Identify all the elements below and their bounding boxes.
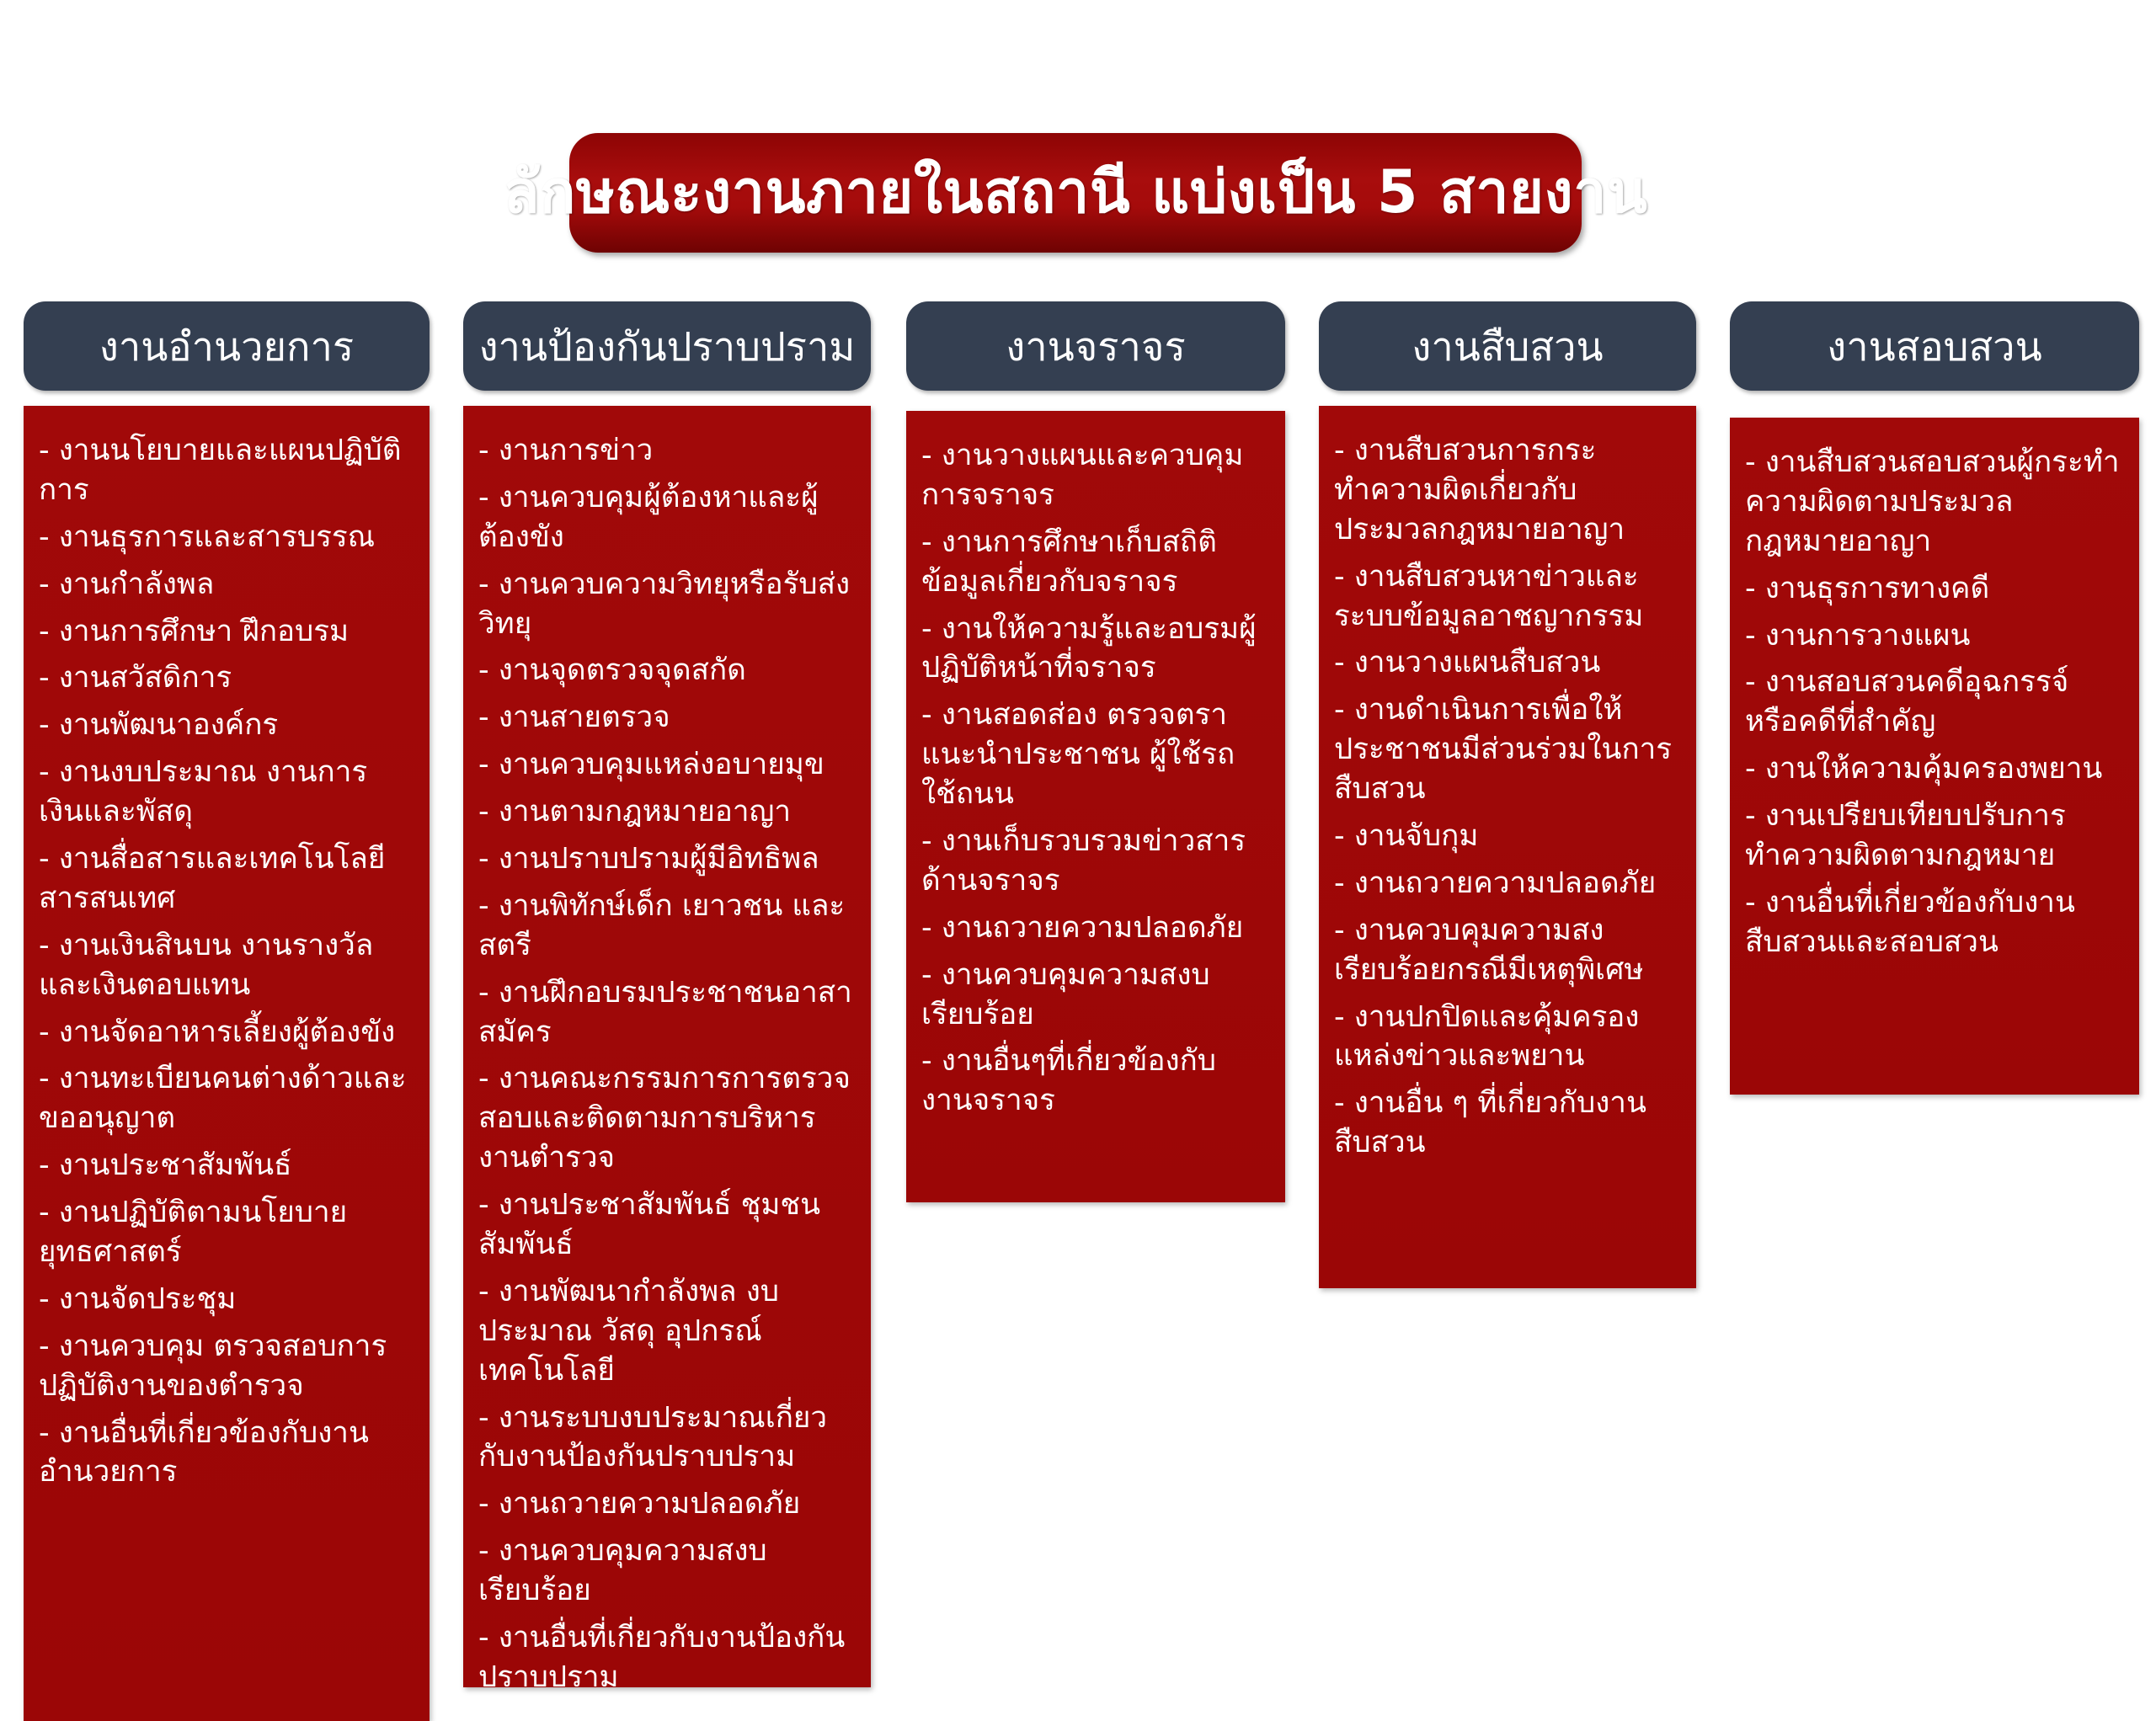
list-item: - งานเปรียบเทียบปรับการทำความผิดตามกฎหมา… xyxy=(1745,797,2121,876)
list-item: - งานให้ความคุ้มครองพยาน xyxy=(1745,749,2121,789)
list-item: - งานสืบสวนสอบสวนผู้กระทำความผิดตามประมว… xyxy=(1745,443,2121,562)
list-item: - งานพัฒนากำลังพล งบประมาณ วัสดุ อุปกรณ์… xyxy=(478,1272,852,1391)
column-ngan-sobsuan: งานสอบสวน - งานสืบสวนสอบสวนผู้กระทำความผ… xyxy=(1730,301,2139,1095)
list-item: - งานเงินสินบน งานรางวัลและเงินตอบแทน xyxy=(39,926,411,1005)
list-item: - งานวางแผนสืบสวน xyxy=(1334,643,1678,683)
list-item: - งานควบคุมความสงบเรียบร้อย xyxy=(921,956,1267,1035)
diagram-title-banner: ลักษณะงานภายในสถานี แบ่งเป็น 5 สายงาน xyxy=(569,133,1582,253)
list-item: - งานอื่น ๆ ที่เกี่ยวกับงานสืบสวน xyxy=(1334,1084,1678,1163)
list-item: - งานพัฒนาองค์กร xyxy=(39,706,411,745)
column-body-4: - งานสืบสวนสอบสวนผู้กระทำความผิดตามประมว… xyxy=(1730,418,2139,1095)
list-item: - งานจับกุม xyxy=(1334,817,1678,856)
list-item: - งานควบความวิทยุหรือรับส่งวิทยุ xyxy=(478,565,852,644)
list-item: - งานอื่นที่เกี่ยวข้องกับงานอำนวยการ xyxy=(39,1414,411,1493)
column-body-1: - งานการข่าว- งานควบคุมผู้ต้องหาและผู้ต้… xyxy=(463,406,871,1687)
list-item: - งานสอดส่อง ตรวจตรา แนะนำประชาชน ผู้ใช้… xyxy=(921,695,1267,814)
list-item: - งานเก็บรวบรวมข่าวสารด้านจราจร xyxy=(921,822,1267,901)
list-item: - งานการศึกษาเก็บสถิติข้อมูลเกี่ยวกับจรา… xyxy=(921,523,1267,602)
list-item: - งานควบคุมแหล่งอบายมุข xyxy=(478,745,852,785)
list-item: - งานปฏิบัติตามนโยบายยุทธศาสตร์ xyxy=(39,1193,411,1272)
list-item: - งานควบคุมความสงเรียบร้อยกรณีมีเหตุพิเศ… xyxy=(1334,911,1678,990)
column-ngan-amnuaykan: งานอำนวยการ - งานนโยบายและแผนปฏิบัติการ-… xyxy=(24,301,430,1721)
column-header-2[interactable]: งานจราจร xyxy=(906,301,1285,391)
list-item: - งานการศึกษา ฝึกอบรม xyxy=(39,612,411,652)
column-body-2: - งานวางแผนและควบคุมการจราจร- งานการศึกษ… xyxy=(906,411,1285,1202)
list-item: - งานประชาสัมพันธ์ xyxy=(39,1146,411,1186)
list-item: - งานธุรการทางคดี xyxy=(1745,569,2121,609)
column-body-3: - งานสืบสวนการกระทำความผิดเกี่ยวกับประมว… xyxy=(1319,406,1696,1288)
column-ngan-pongkan-prabpram: งานป้องกันปราบปราม - งานการข่าว- งานควบค… xyxy=(463,301,871,1687)
list-item: - งานจัดอาหารเลี้ยงผู้ต้องขัง xyxy=(39,1013,411,1052)
list-item: - งานพิทักษ์เด็ก เยาวชน และสตรี xyxy=(478,887,852,966)
list-item: - งานงบประมาณ งานการเงินและพัสดุ xyxy=(39,753,411,832)
column-header-3[interactable]: งานสืบสวน xyxy=(1319,301,1696,391)
column-header-0[interactable]: งานอำนวยการ xyxy=(24,301,430,391)
list-item: - งานถวายความปลอดภัย xyxy=(921,908,1267,948)
list-item: - งานอื่นๆที่เกี่ยวข้องกับงานจราจร xyxy=(921,1042,1267,1121)
column-ngan-charachon: งานจราจร - งานวางแผนและควบคุมการจราจร- ง… xyxy=(906,301,1285,1202)
list-item: - งานประชาสัมพันธ์ ชุมชนสัมพันธ์ xyxy=(478,1186,852,1265)
list-item: - งานวางแผนและควบคุมการจราจร xyxy=(921,436,1267,515)
list-item: - งานควบคุมผู้ต้องหาและผู้ต้องขัง xyxy=(478,478,852,557)
list-item: - งานควบคุม ตรวจสอบการปฏิบัติงานของตำรวจ xyxy=(39,1327,411,1406)
list-item: - งานถวายความปลอดภัย xyxy=(478,1484,852,1524)
list-item: - งานสอบสวนคดีอุฉกรรจ์หรือคดีที่สำคัญ xyxy=(1745,663,2121,742)
list-item: - งานสวัสดิการ xyxy=(39,658,411,698)
list-item: - งานระบบงบประมาณเกี่ยวกับงานป้องกันปราบ… xyxy=(478,1399,852,1478)
column-body-0: - งานนโยบายและแผนปฏิบัติการ- งานธุรการแล… xyxy=(24,406,430,1721)
list-item: - งานอื่นที่เกี่ยวกับงานป้องกันปราบปราม xyxy=(478,1618,852,1697)
page-title: ลักษณะงานภายในสถานี แบ่งเป็น 5 สายงาน xyxy=(504,162,1648,224)
list-item: - งานสืบสวนหาข่าวและระบบข้อมูลอาชญากรรม xyxy=(1334,557,1678,637)
list-item: - งานถวายความปลอดภัย xyxy=(1334,864,1678,903)
list-item: - งานปราบปรามผู้มีอิทธิพล xyxy=(478,839,852,879)
list-item: - งานคณะกรรมการการตรวจสอบและติดตามการบริ… xyxy=(478,1059,852,1178)
list-item: - งานควบคุมความสงบเรียบร้อย xyxy=(478,1532,852,1611)
list-item: - งานฝึกอบรมประชาชนอาสาสมัคร xyxy=(478,973,852,1052)
column-header-4[interactable]: งานสอบสวน xyxy=(1730,301,2139,391)
list-item: - งานจุดตรวจจุดสกัด xyxy=(478,651,852,690)
list-item: - งานกำลังพล xyxy=(39,565,411,605)
list-item: - งานสื่อสารและเทคโนโลยีสารสนเทศ xyxy=(39,839,411,919)
list-item: - งานทะเบียนคนต่างด้าวและขออนุญาต xyxy=(39,1059,411,1138)
list-item: - งานให้ความรู้และอบรมผู้ปฏิบัติหน้าที่จ… xyxy=(921,610,1267,689)
list-item: - งานนโยบายและแผนปฏิบัติการ xyxy=(39,431,411,510)
list-item: - งานการวางแผน xyxy=(1745,616,2121,656)
list-item: - งานตามกฎหมายอาญา xyxy=(478,792,852,832)
list-item: - งานอื่นที่เกี่ยวข้องกับงานสืบสวนและสอบ… xyxy=(1745,883,2121,962)
list-item: - งานปกปิดและคุ้มครองแหล่งข่าวและพยาน xyxy=(1334,998,1678,1077)
column-ngan-seubsuan: งานสืบสวน - งานสืบสวนการกระทำความผิดเกี่… xyxy=(1319,301,1696,1288)
column-header-1[interactable]: งานป้องกันปราบปราม xyxy=(463,301,871,391)
list-item: - งานสายตรวจ xyxy=(478,698,852,738)
list-item: - งานสืบสวนการกระทำความผิดเกี่ยวกับประมว… xyxy=(1334,431,1678,550)
list-item: - งานดำเนินการเพื่อให้ประชาชนมีส่วนร่วมใ… xyxy=(1334,690,1678,809)
list-item: - งานจัดประชุม xyxy=(39,1280,411,1319)
list-item: - งานธุรการและสารบรรณ xyxy=(39,518,411,557)
list-item: - งานการข่าว xyxy=(478,431,852,471)
